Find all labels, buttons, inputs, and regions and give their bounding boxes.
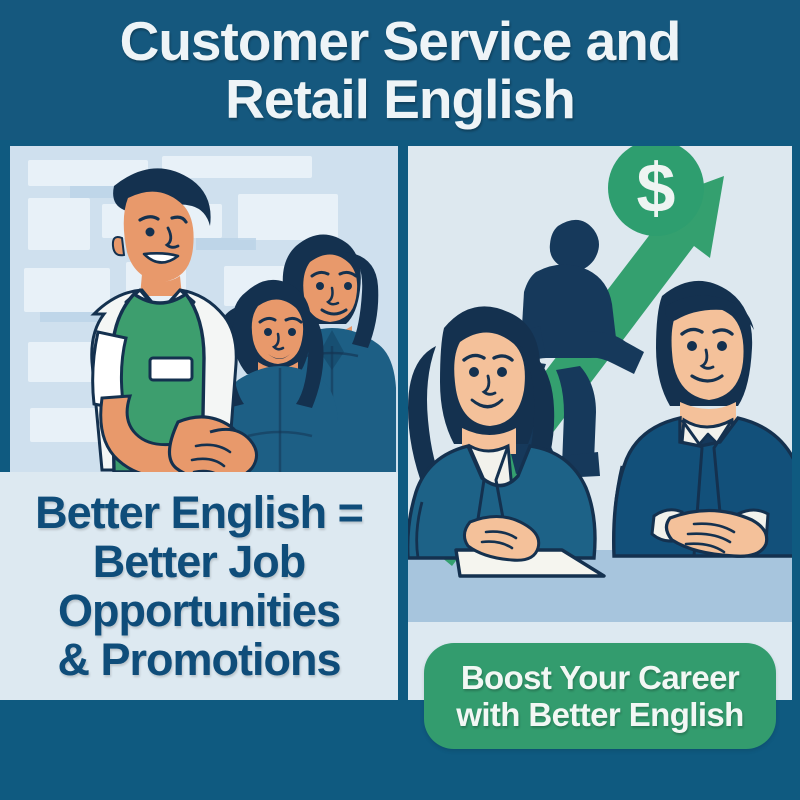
boost-career-button[interactable]: Boost Your Career with Better English: [424, 643, 776, 749]
page-title-line-2: Retail English: [225, 70, 575, 128]
header-banner: Customer Service and Retail English: [0, 0, 800, 140]
tagline-line-4: & Promotions: [35, 635, 363, 684]
name-badge: [150, 358, 192, 380]
retail-handshake-illustration: [10, 146, 398, 472]
right-illustration-panel: $: [408, 146, 792, 622]
tagline-line-3: Opportunities: [35, 586, 363, 635]
page-title-line-1: Customer Service and: [120, 12, 681, 70]
dollar-symbol: $: [637, 149, 676, 227]
cta-line-1: Boost Your Career: [456, 659, 743, 696]
left-illustration-panel: [10, 146, 398, 472]
tagline-text: Better English = Better Job Opportunitie…: [25, 488, 373, 684]
career-growth-illustration: $: [408, 146, 792, 622]
tagline-line-1: Better English =: [35, 488, 363, 537]
cta-line-2: with Better English: [456, 696, 743, 733]
tagline-line-2: Better Job: [35, 537, 363, 586]
tagline-panel: Better English = Better Job Opportunitie…: [0, 472, 398, 700]
poster-root: Customer Service and Retail English: [0, 0, 800, 800]
